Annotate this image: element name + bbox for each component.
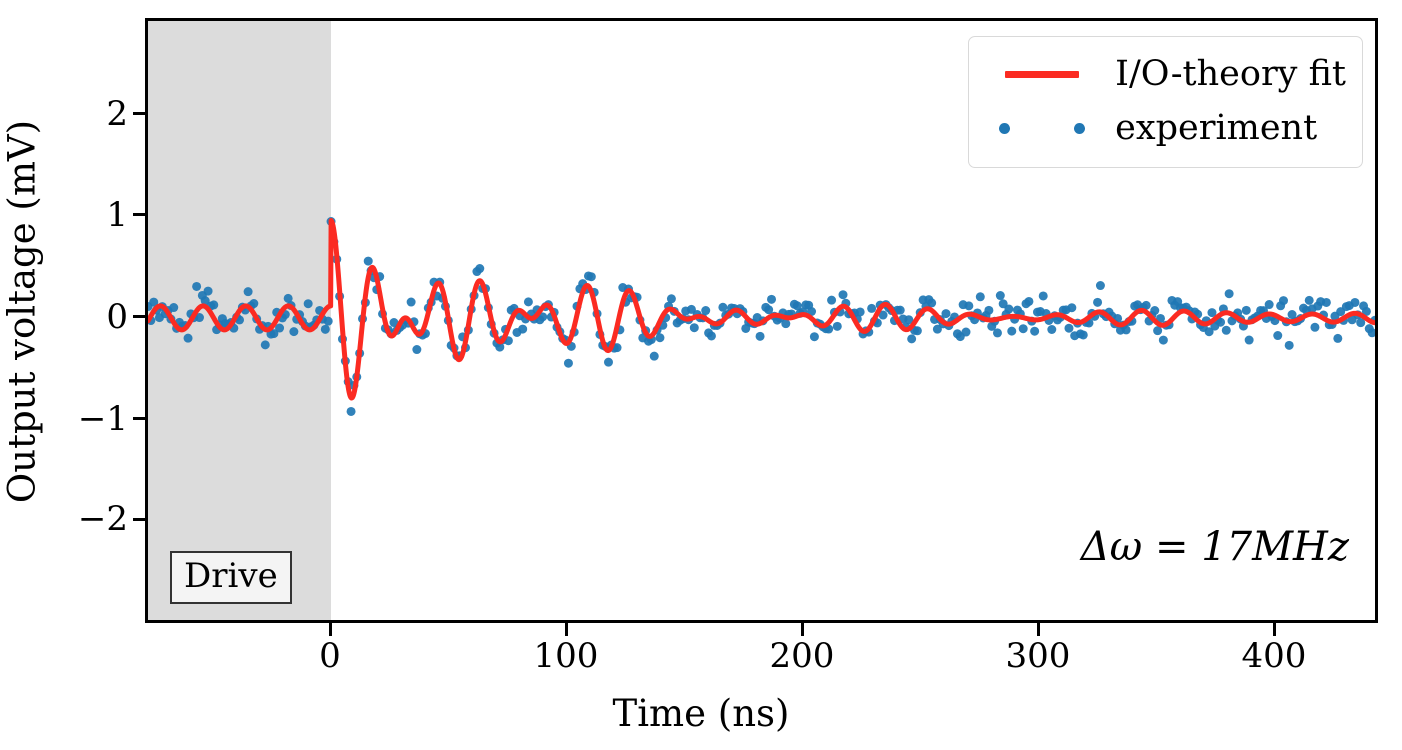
drive-label-box: Drive (170, 551, 292, 604)
y-tick-label-0: 0 (68, 297, 128, 337)
plot-area: I/O-theory fit experiment Drive Δω = 17M… (145, 18, 1378, 623)
legend-label-experiment: experiment (1101, 108, 1317, 148)
detuning-equals: = (1142, 524, 1201, 570)
x-tick-mark-400 (1273, 623, 1276, 636)
legend-label-fit: I/O-theory fit (1101, 54, 1346, 94)
x-tick-label-200: 200 (742, 636, 862, 676)
detuning-annotation: Δω = 17MHz (1081, 524, 1349, 570)
x-tick-mark-0 (329, 623, 332, 636)
legend: I/O-theory fit experiment (968, 36, 1363, 168)
legend-line-swatch (983, 71, 1101, 78)
x-tick-mark-200 (801, 623, 804, 636)
x-tick-mark-300 (1037, 623, 1040, 636)
x-tick-label-0: 0 (270, 636, 390, 676)
drive-label-text: Drive (184, 556, 278, 596)
legend-entry-experiment: experiment (983, 101, 1346, 155)
y-tick-label-2: 2 (68, 94, 128, 134)
detuning-value: 17MHz (1201, 524, 1349, 570)
y-tick-label-neg1: −1 (48, 399, 128, 439)
figure-canvas: Output voltage (mV) 2 1 0 −1 −2 0 100 20… (0, 0, 1402, 750)
y-axis-label: Output voltage (mV) (1, 32, 44, 592)
detuning-symbol: Δω (1081, 524, 1143, 570)
x-tick-label-300: 300 (978, 636, 1098, 676)
y-tick-label-1: 1 (68, 195, 128, 235)
x-tick-mark-100 (565, 623, 568, 636)
x-tick-label-400: 400 (1214, 636, 1334, 676)
legend-entry-fit: I/O-theory fit (983, 47, 1346, 101)
legend-dots-swatch (983, 123, 1101, 134)
x-tick-label-100: 100 (506, 636, 626, 676)
y-tick-label-neg2: −2 (48, 499, 128, 539)
x-axis-label: Time (ns) (0, 692, 1402, 735)
